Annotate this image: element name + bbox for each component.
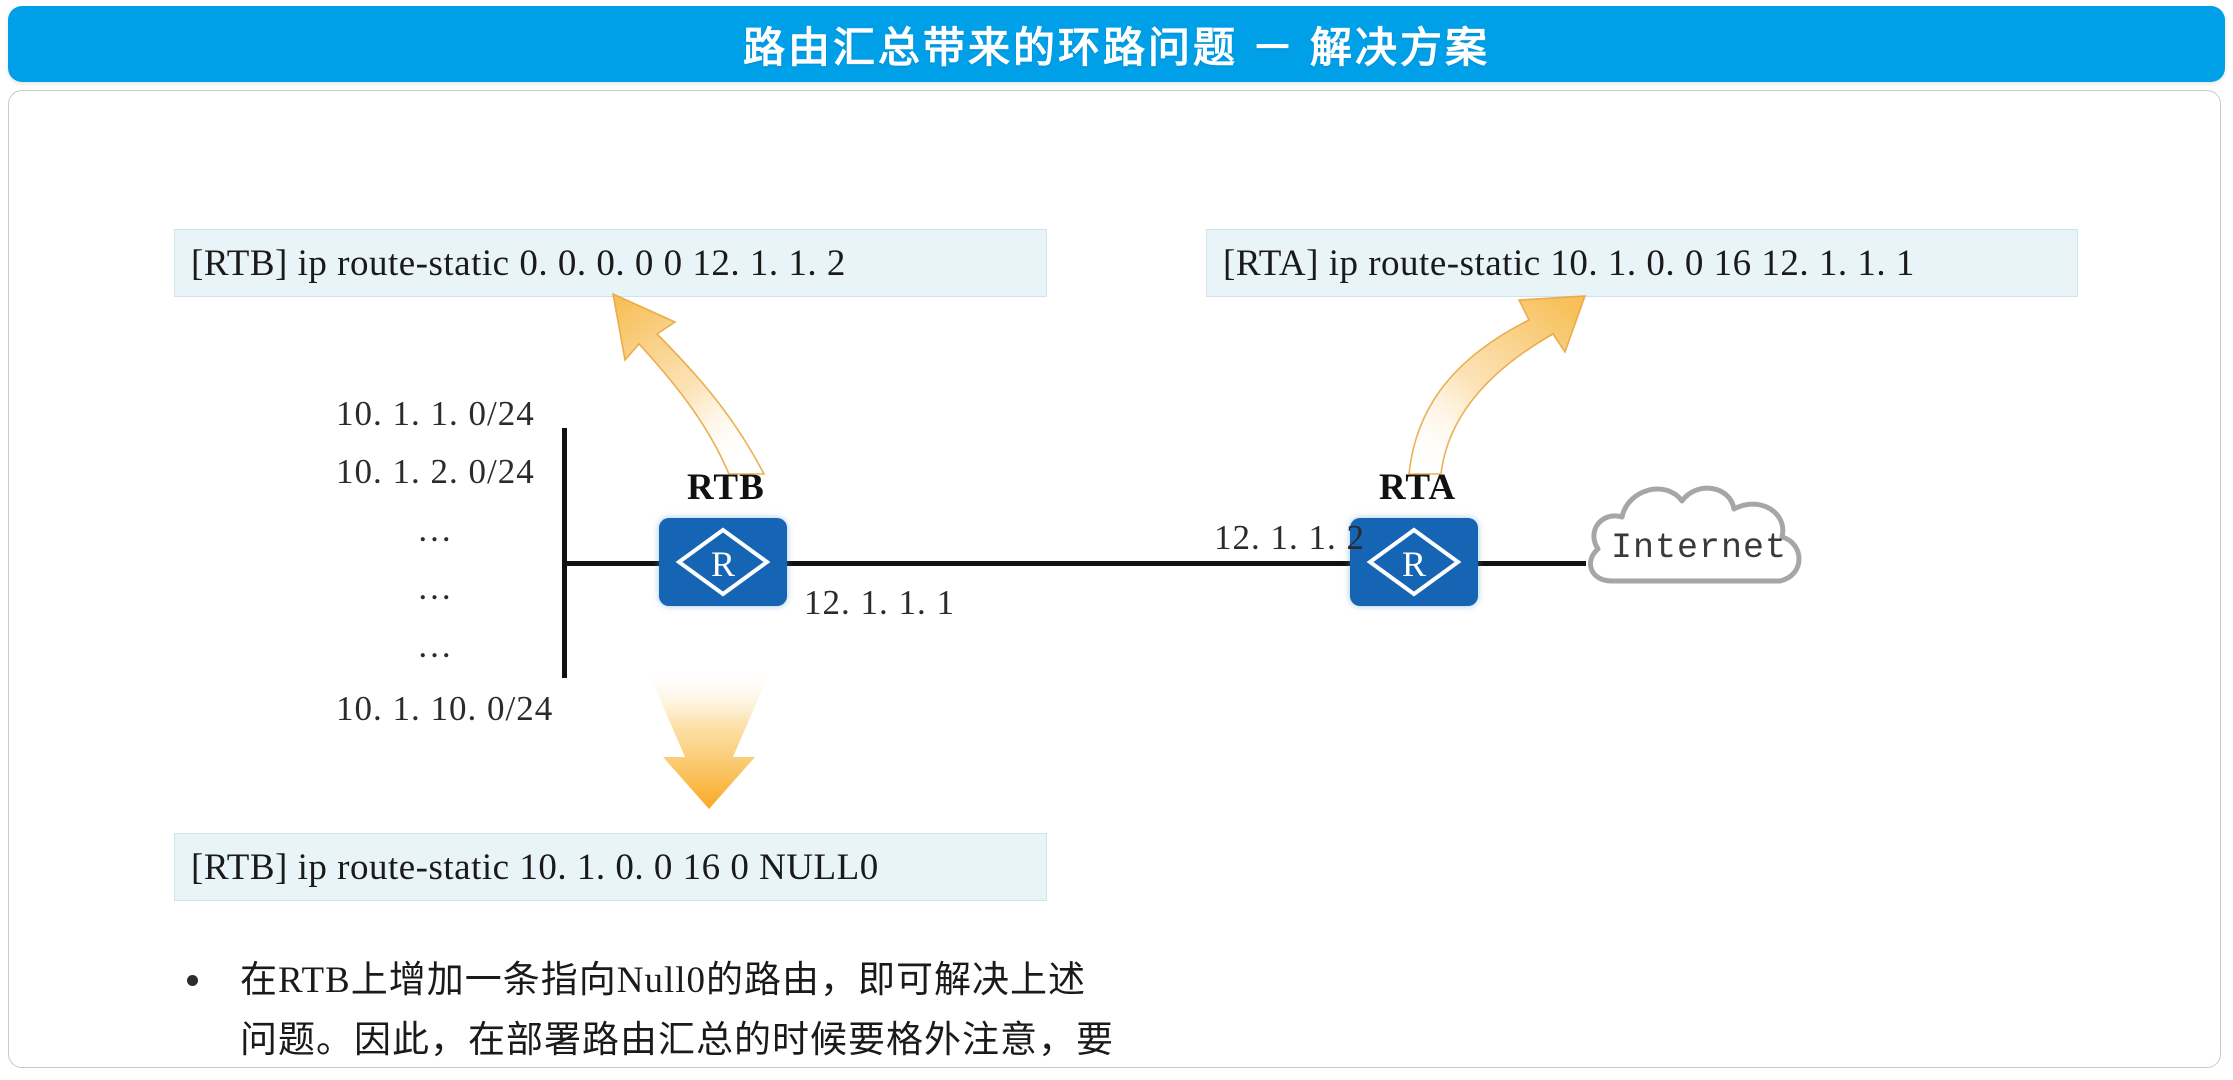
svg-text:R: R: [1402, 544, 1426, 584]
router-icon: R: [1350, 518, 1478, 606]
command-box-rta-summary-route: [RTA] ip route-static 10. 1. 0. 0 16 12.…: [1206, 229, 2078, 297]
slide-header-bar: 路由汇总带来的环路问题 － 解决方案: [8, 6, 2225, 82]
command-text-rtb-default-route: [RTB] ip route-static 0. 0. 0. 0 0 12. 1…: [191, 242, 846, 285]
command-text-rta-summary-route: [RTA] ip route-static 10. 1. 0. 0 16 12.…: [1223, 242, 1915, 285]
link-rta-to-internet: [1476, 561, 1586, 566]
arrow-rtb-to-default-route: [589, 286, 789, 476]
interface-label-rta-wan: 12. 1. 1. 2: [1214, 518, 1365, 558]
bullet-dot-icon: [187, 975, 198, 986]
arrow-rta-to-summary-route: [1379, 286, 1599, 476]
network-label-2: 10. 1. 2. 0/24: [336, 452, 535, 492]
note-bullet-text: 在RTB上增加一条指向Null0的路由，即可解决上述问题。因此，在部署路由汇总的…: [240, 951, 1117, 1068]
slide-content-panel: [RTB] ip route-static 0. 0. 0. 0 0 12. 1…: [8, 90, 2221, 1068]
router-node-rta[interactable]: R: [1350, 518, 1478, 606]
internet-cloud-label: Internet: [1574, 469, 1824, 609]
note-bullet-row: 在RTB上增加一条指向Null0的路由，即可解决上述问题。因此，在部署路由汇总的…: [187, 951, 1117, 1068]
arrow-rtb-to-null0-route: [629, 663, 789, 813]
router-node-rtb[interactable]: R: [659, 518, 787, 606]
network-label-ellipsis-2: …: [417, 568, 453, 608]
network-label-ellipsis-3: …: [417, 626, 453, 666]
page-title: 路由汇总带来的环路问题 － 解决方案: [743, 14, 1490, 75]
interface-label-rtb-wan: 12. 1. 1. 1: [804, 583, 955, 623]
network-label-10: 10. 1. 10. 0/24: [336, 689, 553, 729]
router-icon: R: [659, 518, 787, 606]
network-label-ellipsis-1: …: [417, 510, 453, 550]
link-bus-to-rtb: [562, 561, 660, 566]
internet-cloud: Internet: [1574, 469, 1824, 609]
lan-bus-line: [562, 428, 567, 678]
svg-text:R: R: [711, 544, 735, 584]
network-label-1: 10. 1. 1. 0/24: [336, 394, 535, 434]
link-rtb-to-rta: [786, 561, 1366, 566]
command-box-rtb-null0-route: [RTB] ip route-static 10. 1. 0. 0 16 0 N…: [174, 833, 1047, 901]
command-text-rtb-null0-route: [RTB] ip route-static 10. 1. 0. 0 16 0 N…: [191, 846, 879, 889]
